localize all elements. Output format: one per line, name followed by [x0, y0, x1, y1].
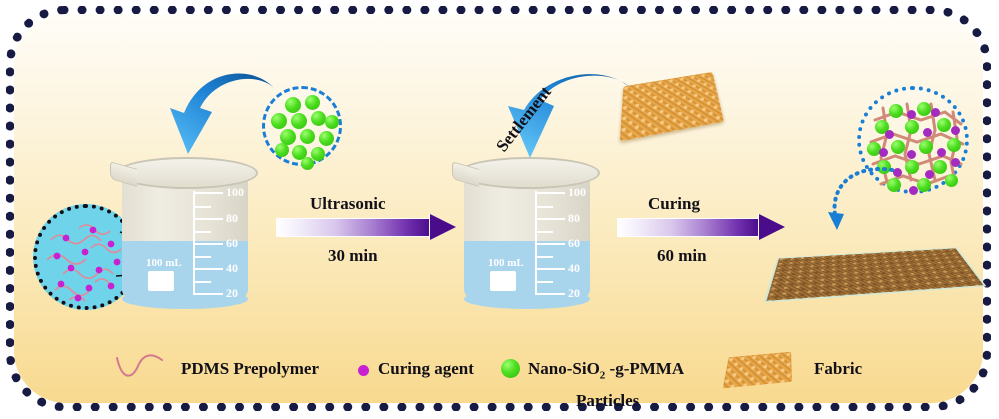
legend-label-particles: Nano-SiO2 -g-PMMA [528, 359, 684, 381]
beaker-tick-label: 40 [568, 261, 580, 276]
beaker-volume-tag [148, 271, 174, 291]
ultrasonic-arrow [276, 214, 456, 241]
beaker-tick-minor [535, 206, 553, 208]
step-1-title: Ultrasonic [310, 194, 386, 214]
beaker-tick-label: 100 [226, 185, 244, 200]
step-1-time: 30 min [328, 246, 378, 266]
curing-arrow [617, 214, 785, 241]
purple-dot-icon [358, 365, 369, 376]
beaker-tick-60 [535, 243, 565, 245]
squiggle-icon [114, 354, 174, 380]
beaker-tick-minor [193, 206, 211, 208]
figure-canvas: 100 80 60 40 20 100 mL [0, 0, 999, 419]
beaker-tick-label: 80 [568, 211, 580, 226]
coated-fabric [770, 222, 978, 322]
beaker-tick-100 [535, 192, 565, 194]
beaker-volume-label: 100 mL [146, 257, 182, 269]
nano-particles-closeup [262, 86, 342, 166]
beaker-tick-20 [535, 293, 565, 295]
beaker-tick-label: 100 [568, 185, 586, 200]
beaker-tick-60 [193, 243, 223, 245]
beaker-volume-tag [490, 271, 516, 291]
beaker-tick-100 [193, 192, 223, 194]
legend-label-curing-agent: Curing agent [378, 359, 474, 379]
beaker-tick-40 [535, 268, 565, 270]
beaker-tick-20 [193, 293, 223, 295]
beaker-2: 100 80 60 40 20 100 mL [452, 149, 602, 317]
beaker-tick-80 [535, 218, 565, 220]
beaker-tick-minor [193, 256, 211, 258]
legend-label-pdms: PDMS Prepolymer [181, 359, 319, 379]
beaker-tick-minor [535, 231, 553, 233]
beaker-tick-label: 60 [226, 236, 238, 251]
green-circle-icon [501, 359, 520, 378]
beaker-tick-40 [193, 268, 223, 270]
step-2-title: Curing [648, 194, 700, 214]
beaker-tick-minor [535, 256, 553, 258]
beaker-tick-80 [193, 218, 223, 220]
beaker-tick-label: 20 [226, 286, 238, 301]
figure-panel: 100 80 60 40 20 100 mL [14, 14, 983, 403]
beaker-tick-minor [193, 281, 211, 283]
beaker-tick-minor [193, 231, 211, 233]
fabric-layer [764, 247, 987, 302]
fabric-swatch-icon [723, 352, 792, 389]
legend-label-fabric: Fabric [814, 359, 862, 379]
legend-particles-tail: -g-PMMA [605, 359, 684, 378]
beaker-1: 100 80 60 40 20 100 mL [110, 149, 260, 317]
beaker-tick-minor [535, 281, 553, 283]
beaker-tick-label: 60 [568, 236, 580, 251]
legend-particles-main: Nano-SiO [528, 359, 600, 378]
step-2-time: 60 min [657, 246, 707, 266]
legend-label-particles-line2: Particles [576, 391, 639, 411]
beaker-tick-label: 20 [568, 286, 580, 301]
beaker-volume-label: 100 mL [488, 257, 524, 269]
beaker-tick-label: 40 [226, 261, 238, 276]
beaker-tick-label: 80 [226, 211, 238, 226]
